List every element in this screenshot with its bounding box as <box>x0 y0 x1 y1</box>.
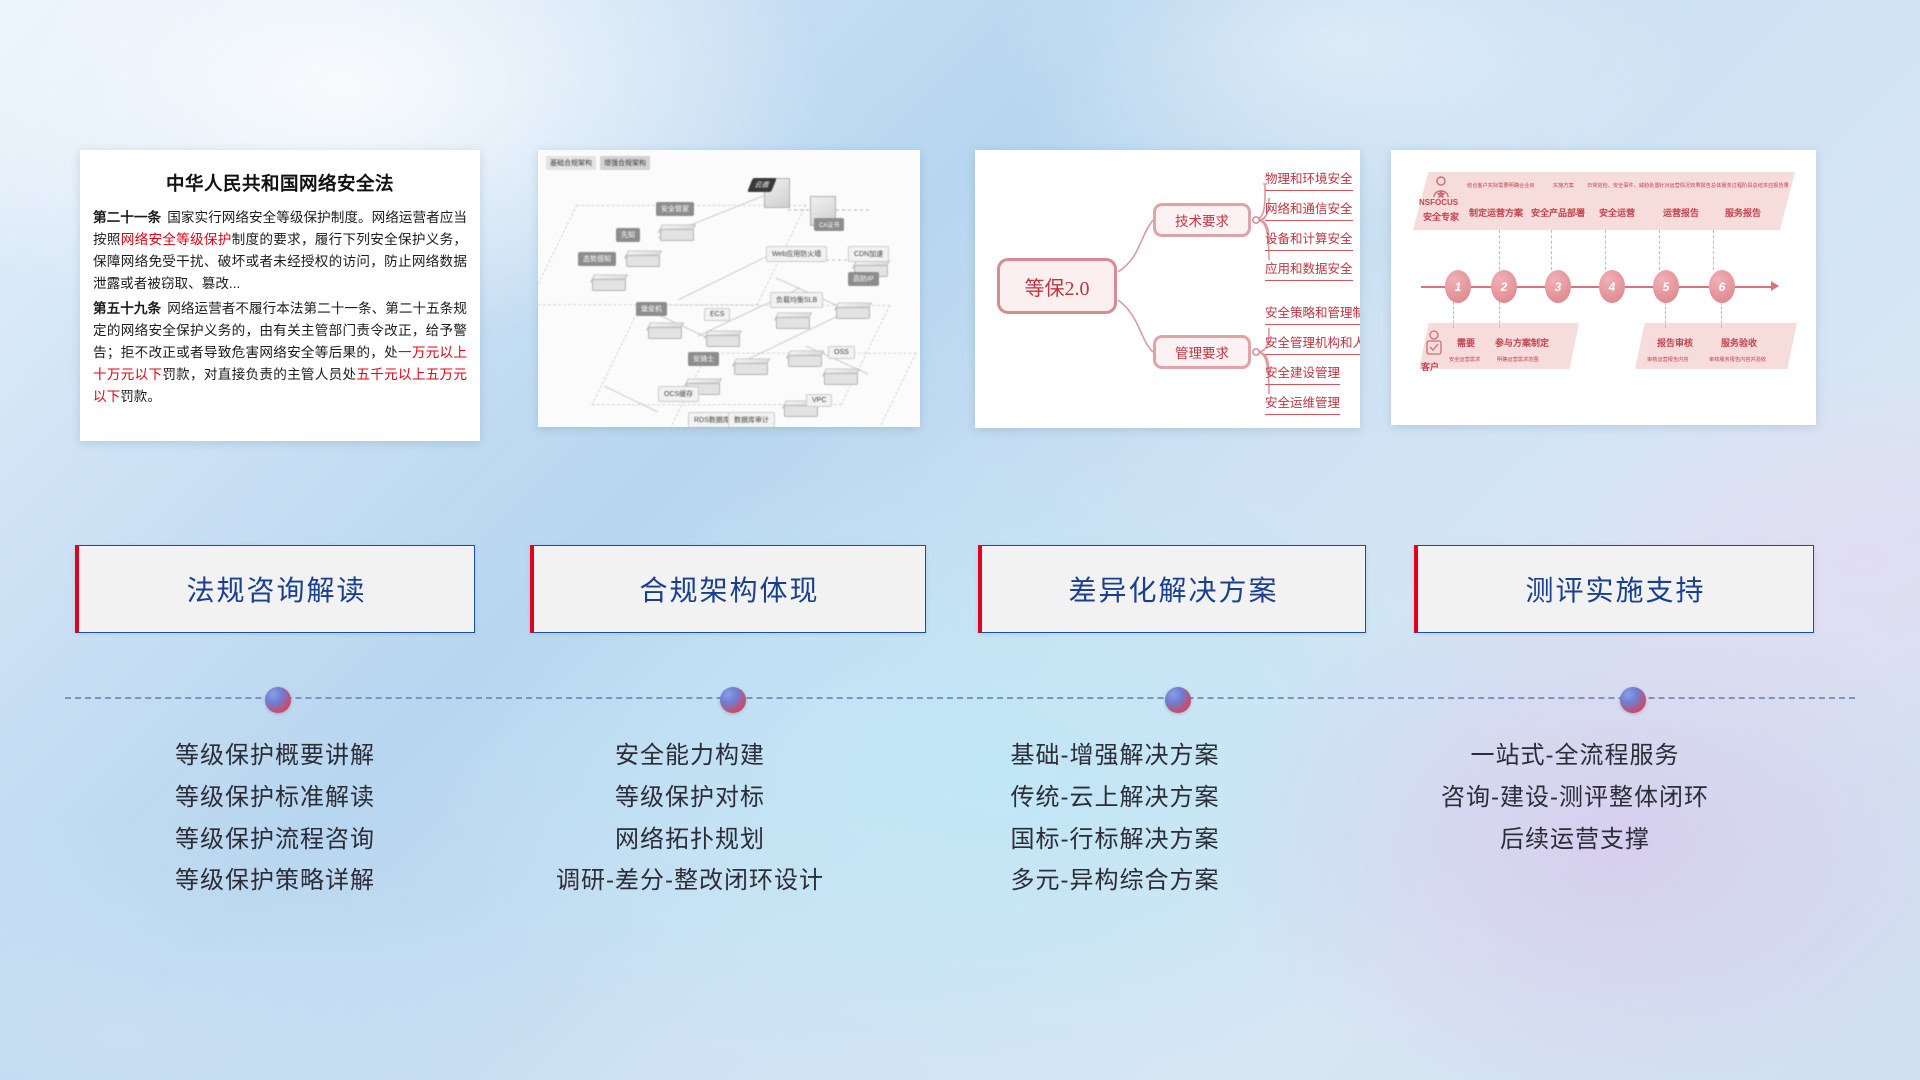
list-item: 等级保护对标 <box>475 777 905 819</box>
customer-person-icon <box>1425 330 1443 356</box>
expert-band <box>1413 172 1795 230</box>
card-row: 中华人民共和国网络安全法 第二十一条国家实行网络安全等级保护制度。网络运营者应当… <box>0 150 1920 450</box>
headline-label-3: 差异化解决方案 <box>1068 569 1278 609</box>
architecture-label-oss: OSS <box>828 346 855 359</box>
law-article-59-label: 第五十九条 <box>93 301 161 316</box>
architecture-label-waf: Web应用防火墙 <box>766 246 827 262</box>
expert-step-2-sub: 实施方案 <box>1553 182 1574 189</box>
detail-column-4: 一站式-全流程服务 咨询-建设-测评整体闭环 后续运营支撑 <box>1350 735 1800 860</box>
timeline-tick-1 <box>1499 230 1500 270</box>
expert-step-4-main: 运营报告 <box>1663 206 1699 219</box>
detail-column-1: 等级保护概要讲解 等级保护标准解读 等级保护流程咨询 等级保护策略详解 <box>75 735 475 902</box>
architecture-canvas: 基础合规架构 增强合规架构 <box>538 150 920 427</box>
timeline-tick-4 <box>1659 230 1660 270</box>
headline-box-compliance-architecture[interactable]: 合规架构体现 <box>530 545 926 633</box>
timeline-node-4: 4 <box>1599 270 1625 303</box>
law-article-59: 第五十九条网络运营者不履行本法第二十一条、第二十五条规定的网络安全保护义务的，由… <box>93 298 467 408</box>
list-item: 调研-差分-整改闭环设计 <box>475 860 905 902</box>
architecture-node-icon-10 <box>776 310 810 330</box>
headline-label-4: 测评实施支持 <box>1525 569 1705 609</box>
list-item: 后续运营支撑 <box>1350 819 1800 861</box>
mindmap-leaf-tech-2: 网络和通信安全 <box>1265 198 1353 221</box>
card-law-text: 中华人民共和国网络安全法 第二十一条国家实行网络安全等级保护制度。网络运营者应当… <box>80 150 480 441</box>
detail-column-3: 基础-增强解决方案 传统-云上解决方案 国标-行标解决方案 多元-异构综合方案 <box>905 735 1325 902</box>
list-item: 多元-异构综合方案 <box>905 860 1325 902</box>
architecture-node-icon-1 <box>660 222 694 242</box>
timeline-marker-2 <box>720 687 746 713</box>
customer-step-3-sub: 审核运营报告内容 <box>1647 356 1689 363</box>
list-item: 等级保护流程咨询 <box>75 819 475 861</box>
timeline-marker-1 <box>265 687 291 713</box>
architecture-label-vpc: VPC <box>806 394 832 407</box>
timeline-marker-4 <box>1620 687 1646 713</box>
expert-brand-line2: 安全专家 <box>1423 210 1459 223</box>
customer-label: 客户 <box>1421 360 1439 373</box>
timeline-node-6: 6 <box>1709 270 1735 303</box>
architecture-node-icon-8 <box>788 348 822 368</box>
headline-box-assessment-support[interactable]: 测评实施支持 <box>1414 545 1814 633</box>
expert-step-3-sub: 日常巡检、安全事件、威胁处置 <box>1587 182 1660 189</box>
list-item: 传统-云上解决方案 <box>905 777 1325 819</box>
architecture-label-ecs: ECS <box>704 308 730 321</box>
expert-step-4-sub: 针对运营情况效果报告 <box>1659 182 1711 189</box>
timeline-dashed-line <box>65 697 1855 700</box>
expert-step-1-sub: 结合客户实际需要明确合业目 <box>1467 182 1534 189</box>
timeline-tick-7 <box>1499 302 1500 328</box>
architecture-label-baoleiji: 堡垒机 <box>636 302 667 316</box>
headline-box-regulation-consulting[interactable]: 法规咨询解读 <box>75 545 475 633</box>
law-article-21-label: 第二十一条 <box>93 210 161 225</box>
architecture-label-dbaudit: 数据库审计 <box>728 412 775 427</box>
mindmap-leaf-mgmt-4: 安全运维管理 <box>1265 392 1340 415</box>
architecture-node-icon-5 <box>706 328 740 348</box>
timeline-tick-3 <box>1605 230 1606 270</box>
timeline-tick-6 <box>1453 302 1454 328</box>
expert-person-icon <box>1431 176 1451 198</box>
law-article-59-text-b: 罚款，对直接负责的主管人员处 <box>162 367 356 382</box>
mindmap-leaf-mgmt-2: 安全管理机构和人员 <box>1265 332 1360 355</box>
law-article-21: 第二十一条国家实行网络安全等级保护制度。网络运营者应当按照网络安全等级保护制度的… <box>93 207 467 295</box>
architecture-node-icon-4 <box>648 320 682 340</box>
headline-box-differentiated-solution[interactable]: 差异化解决方案 <box>978 545 1366 633</box>
timeline-tick-2 <box>1551 230 1552 270</box>
mindmap-leaf-tech-3: 设备和计算安全 <box>1265 228 1353 251</box>
card-service-timeline: NSFOCUS 安全专家 结合客户实际需要明确合业目 制定运营方案 实施方案 安… <box>1391 150 1816 425</box>
mindmap-root-node: 等保2.0 <box>997 258 1117 314</box>
law-title: 中华人民共和国网络安全法 <box>93 170 467 196</box>
list-item: 安全能力构建 <box>475 735 905 777</box>
timeline-node-2: 2 <box>1491 270 1517 303</box>
timeline-axis-arrow-icon <box>1771 281 1779 291</box>
customer-step-1-main: 需要 <box>1457 336 1475 349</box>
timeline-node-3: 3 <box>1545 270 1571 303</box>
card-mindmap: 等保2.0 技术要求 管理要求 物理和环境安全 网络和通信安全 设备和计算安全 … <box>975 150 1360 428</box>
timeline-node-1: 1 <box>1445 270 1471 303</box>
expert-step-3-main: 安全运营 <box>1599 206 1635 219</box>
list-item: 等级保护策略详解 <box>75 860 475 902</box>
architecture-label-xianzhi: 先知 <box>616 228 640 242</box>
list-item: 等级保护标准解读 <box>75 777 475 819</box>
list-item: 等级保护概要讲解 <box>75 735 475 777</box>
law-article-21-highlight: 网络安全等级保护 <box>121 232 232 247</box>
mindmap-branch-management: 管理要求 <box>1153 335 1251 369</box>
expert-step-2-main: 安全产品部署 <box>1531 206 1585 219</box>
customer-step-1-sub: 安全运营需求 <box>1449 356 1480 363</box>
architecture-label-gaofangip: 高防IP <box>848 272 879 286</box>
mindmap-leaf-tech-4: 应用和数据安全 <box>1265 258 1353 281</box>
headline-label-1: 法规咨询解读 <box>186 569 366 609</box>
timeline-node-5: 5 <box>1653 270 1679 303</box>
architecture-label-ocs: OCS缓存 <box>658 386 699 402</box>
mindmap-canvas: 等保2.0 技术要求 管理要求 物理和环境安全 网络和通信安全 设备和计算安全 … <box>975 150 1360 428</box>
architecture-label-slb: 负载均衡SLB <box>770 292 823 308</box>
law-article-59-text-c: 罚款。 <box>120 389 161 404</box>
timeline-marker-3 <box>1165 687 1191 713</box>
list-item: 一站式-全流程服务 <box>1350 735 1800 777</box>
customer-step-2-main: 参与方案制定 <box>1495 336 1549 349</box>
timeline-tick-9 <box>1721 302 1722 328</box>
mindmap-branch-technical: 技术要求 <box>1153 203 1251 237</box>
architecture-node-icon-11 <box>836 300 870 320</box>
architecture-label-ca: CA证书 <box>814 218 844 231</box>
list-item: 基础-增强解决方案 <box>905 735 1325 777</box>
detail-columns: 等级保护概要讲解 等级保护标准解读 等级保护流程咨询 等级保护策略详解 安全能力… <box>0 735 1920 965</box>
architecture-node-icon-3 <box>592 272 626 292</box>
timeline-tick-8 <box>1665 302 1666 328</box>
list-item: 网络拓扑规划 <box>475 819 905 861</box>
customer-step-2-sub: 明确运营需求范围 <box>1497 356 1539 363</box>
architecture-label-anqishi: 安骑士 <box>688 352 719 366</box>
service-timeline-canvas: NSFOCUS 安全专家 结合客户实际需要明确合业目 制定运营方案 实施方案 安… <box>1391 150 1816 425</box>
architecture-label-anquanguanjia: 安全管家 <box>656 202 694 216</box>
card-architecture-diagram: 基础合规架构 增强合规架构 <box>538 150 920 427</box>
expert-brand-line1: NSFOCUS <box>1419 198 1458 207</box>
headline-row: 法规咨询解读 合规架构体现 差异化解决方案 测评实施支持 <box>0 545 1920 645</box>
architecture-node-icon-6 <box>734 356 768 376</box>
mindmap-leaf-mgmt-1: 安全策略和管理制度 <box>1265 302 1360 325</box>
expert-step-5-sub: 总体服务过程阶段总结本应报告果 <box>1711 182 1789 189</box>
architecture-label-taishiganzhi: 态势感知 <box>578 252 616 266</box>
customer-step-4-sub: 审核服务报告内容并验收 <box>1709 356 1766 363</box>
list-item: 国标-行标解决方案 <box>905 819 1325 861</box>
architecture-node-icon-9 <box>824 366 858 386</box>
mindmap-leaf-tech-1: 物理和环境安全 <box>1265 168 1353 191</box>
timeline-tick-5 <box>1713 230 1714 270</box>
mindmap-leaf-mgmt-3: 安全建设管理 <box>1265 362 1340 385</box>
customer-step-3-main: 报告审核 <box>1657 336 1693 349</box>
detail-column-2: 安全能力构建 等级保护对标 网络拓扑规划 调研-差分-整改闭环设计 <box>475 735 905 902</box>
architecture-node-icon-2 <box>626 248 660 268</box>
customer-step-4-main: 服务验收 <box>1721 336 1757 349</box>
headline-label-2: 合规架构体现 <box>639 569 819 609</box>
expert-step-5-main: 服务报告 <box>1725 206 1761 219</box>
architecture-label-cdn: CDN加速 <box>848 246 889 262</box>
expert-step-1-main: 制定运营方案 <box>1469 206 1523 219</box>
list-item: 咨询-建设-测评整体闭环 <box>1350 777 1800 819</box>
